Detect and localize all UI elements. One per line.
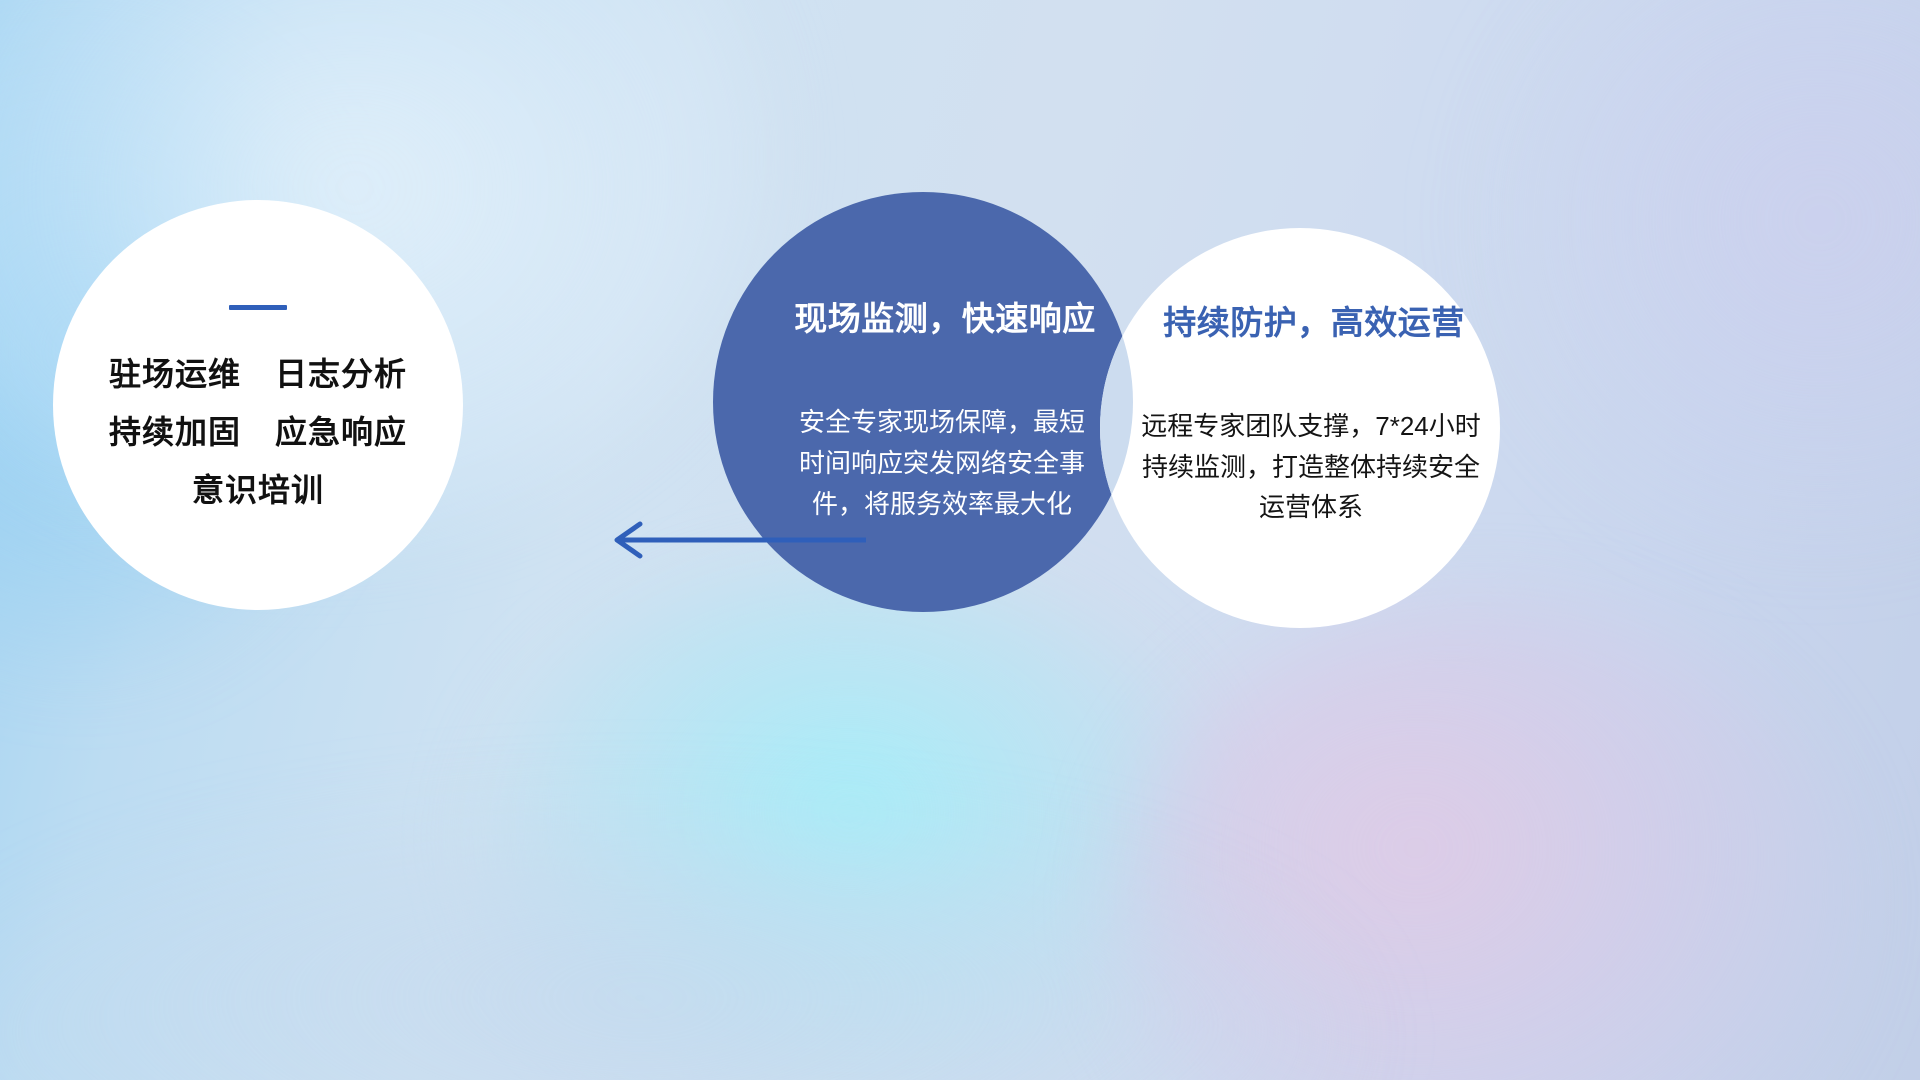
left-divider-line: [229, 305, 287, 310]
slide-canvas: 驻场运维 日志分析 持续加固 应急响应 意识培训 现场监测，快速响应 安全专家现…: [0, 0, 1920, 1080]
right-card: 持续防护，高效运营 远程专家团队支撑，7*24小时持续监测，打造整体持续安全运营…: [1100, 228, 1500, 628]
right-card-body: 远程专家团队支撑，7*24小时持续监测，打造整体持续安全运营体系: [1139, 406, 1484, 528]
keyword-item: 应急响应: [275, 412, 407, 452]
middle-card-body: 安全专家现场保障，最短时间响应突发网络安全事件，将服务效率最大化: [792, 402, 1092, 525]
keyword-item: 日志分析: [275, 354, 407, 394]
keyword-row: 意识培训: [192, 470, 324, 510]
keyword-item: 驻场运维: [109, 354, 241, 394]
middle-card: 现场监测，快速响应 安全专家现场保障，最短时间响应突发网络安全事件，将服务效率最…: [713, 192, 1133, 612]
keyword-row: 持续加固 应急响应: [109, 412, 407, 452]
middle-card-title: 现场监测，快速响应: [794, 292, 1096, 340]
keyword-row: 驻场运维 日志分析: [109, 354, 407, 394]
keyword-item: 意识培训: [192, 470, 324, 510]
left-card: 驻场运维 日志分析 持续加固 应急响应 意识培训: [53, 200, 463, 610]
keyword-item: 持续加固: [109, 412, 241, 452]
right-card-title: 持续防护，高效运营: [1163, 296, 1465, 344]
